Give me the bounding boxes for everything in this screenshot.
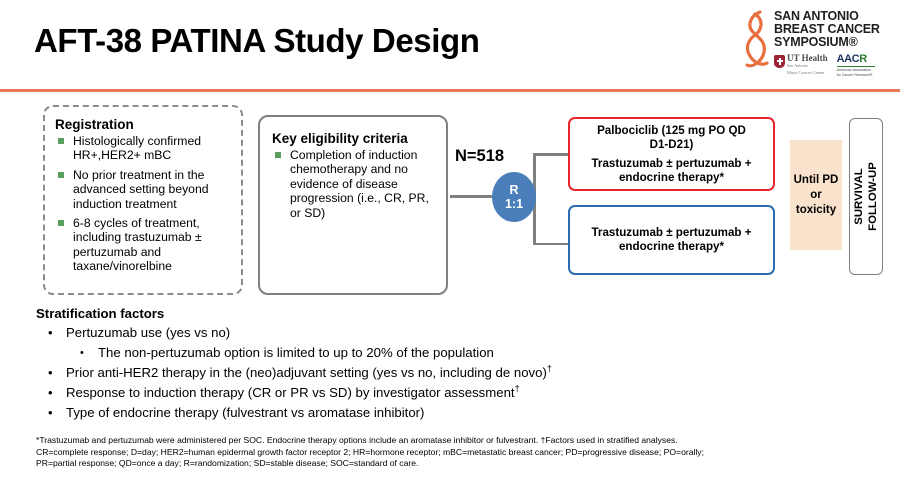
logo-partners: UT Health San Antonio Mays Cancer Center… — [774, 54, 894, 84]
randomization-ratio: 1:1 — [505, 197, 523, 211]
treatment-duration-line-3: toxicity — [794, 203, 839, 218]
registration-box: Registration Histologically confirmed HR… — [43, 105, 243, 295]
dagger-marker: † — [515, 384, 520, 394]
list-item: Histologically confirmed HR+,HER2+ mBC — [55, 134, 233, 163]
ut-health-logo: UT Health San Antonio Mays Cancer Center — [774, 54, 828, 76]
aacr-wordmark: AACR — [837, 54, 875, 65]
registration-list: Histologically confirmed HR+,HER2+ mBC N… — [55, 134, 233, 274]
list-item: Completion of induction chemotherapy and… — [272, 148, 436, 220]
footnote-line-3: PR=partial response; QD=once a day; R=ra… — [36, 458, 872, 470]
arm-blue-line-2: endocrine therapy* — [613, 240, 730, 254]
list-item: Pertuzumab use (yes vs no) The non-pertu… — [36, 323, 756, 363]
registration-heading: Registration — [55, 117, 233, 132]
treatment-duration-box: Until PD or toxicity — [790, 140, 842, 250]
eligibility-box: Key eligibility criteria Completion of i… — [258, 115, 448, 295]
sabcs-logo-text: SAN ANTONIO BREAST CANCER SYMPOSIUM® — [774, 10, 894, 50]
aacr-rule — [837, 66, 875, 67]
list-item: 6-8 cycles of treatment, including trast… — [55, 216, 233, 274]
list-item: The non-pertuzumab option is limited to … — [66, 343, 756, 363]
control-arm-box: Trastuzumab ± pertuzumab + endocrine the… — [568, 205, 775, 275]
page-title: AFT-38 PATINA Study Design — [34, 22, 480, 60]
survival-followup-box: SURVIVAL FOLLOW-UP — [849, 118, 883, 275]
stratification-list: Pertuzumab use (yes vs no) The non-pertu… — [36, 323, 756, 423]
sabcs-logo: SAN ANTONIO BREAST CANCER SYMPOSIUM® UT … — [742, 8, 894, 84]
experimental-arm-box: Palbociclib (125 mg PO QD D1-D21) Trastu… — [568, 117, 775, 191]
strat-item-1-text: Pertuzumab use (yes vs no) — [66, 325, 230, 340]
randomization-letter: R — [509, 183, 518, 197]
treatment-duration-line-1: Until PD — [794, 173, 839, 188]
list-item: Prior anti-HER2 therapy in the (neo)adju… — [36, 363, 756, 383]
aacr-tagline-1: American Association — [837, 68, 875, 73]
connector-rand-to-red-arm — [533, 153, 570, 156]
treatment-duration-line-2: or — [794, 188, 839, 203]
strat-item-4-text: Type of endocrine therapy (fulvestrant v… — [66, 405, 424, 420]
randomization-node: R 1:1 — [492, 172, 536, 222]
eligibility-heading: Key eligibility criteria — [272, 131, 436, 146]
aacr-logo: AACR American Association for Cancer Res… — [837, 54, 875, 77]
list-item: Response to induction therapy (CR or PR … — [36, 383, 756, 403]
footnotes: *Trastuzumab and pertuzumab were adminis… — [36, 435, 872, 470]
list-item: Type of endocrine therapy (fulvestrant v… — [36, 403, 756, 423]
strat-item-3-text: Response to induction therapy (CR or PR … — [66, 385, 515, 400]
sample-size-label: N=518 — [455, 147, 504, 166]
dagger-marker: † — [547, 364, 552, 374]
slide-root: AFT-38 PATINA Study Design SAN ANTONIO B… — [0, 0, 900, 479]
ut-shield-icon — [774, 55, 785, 68]
survival-followup-line-1: SURVIVAL — [853, 162, 867, 231]
arm-red-line-4: endocrine therapy* — [613, 171, 730, 185]
stratification-sublist: The non-pertuzumab option is limited to … — [66, 343, 756, 363]
header-divider — [0, 89, 900, 92]
footnote-line-1: *Trastuzumab and pertuzumab were adminis… — [36, 435, 872, 447]
aacr-tagline-2: for Cancer Research® — [837, 73, 875, 78]
ut-health-center: Mays Cancer Center — [787, 71, 828, 76]
connector-elig-to-rand — [450, 195, 495, 198]
list-item: No prior treatment in the advanced setti… — [55, 168, 233, 211]
arm-blue-line-1: Trastuzumab ± pertuzumab + — [585, 226, 757, 240]
sabcs-line3: SYMPOSIUM® — [774, 36, 894, 49]
survival-followup-line-2: FOLLOW-UP — [866, 162, 880, 231]
arm-red-line-1: Palbociclib (125 mg PO QD — [591, 124, 752, 138]
stratification-heading: Stratification factors — [36, 306, 756, 321]
survival-followup-text: SURVIVAL FOLLOW-UP — [853, 162, 880, 231]
treatment-duration-text: Until PD or toxicity — [794, 173, 839, 218]
arm-red-line-3: Trastuzumab ± pertuzumab + — [585, 157, 757, 171]
stratification-section: Stratification factors Pertuzumab use (y… — [36, 306, 756, 423]
arm-red-line-2: D1-D21) — [644, 138, 700, 152]
ut-health-city: San Antonio — [787, 64, 828, 68]
sabcs-ribbon-icon — [742, 10, 772, 72]
connector-rand-to-blue-arm — [533, 243, 570, 246]
eligibility-list: Completion of induction chemotherapy and… — [272, 148, 436, 220]
footnote-line-2: CR=complete response; D=day; HER2=human … — [36, 447, 872, 459]
strat-item-2-text: Prior anti-HER2 therapy in the (neo)adju… — [66, 365, 547, 380]
ut-health-name: UT Health — [787, 54, 828, 63]
